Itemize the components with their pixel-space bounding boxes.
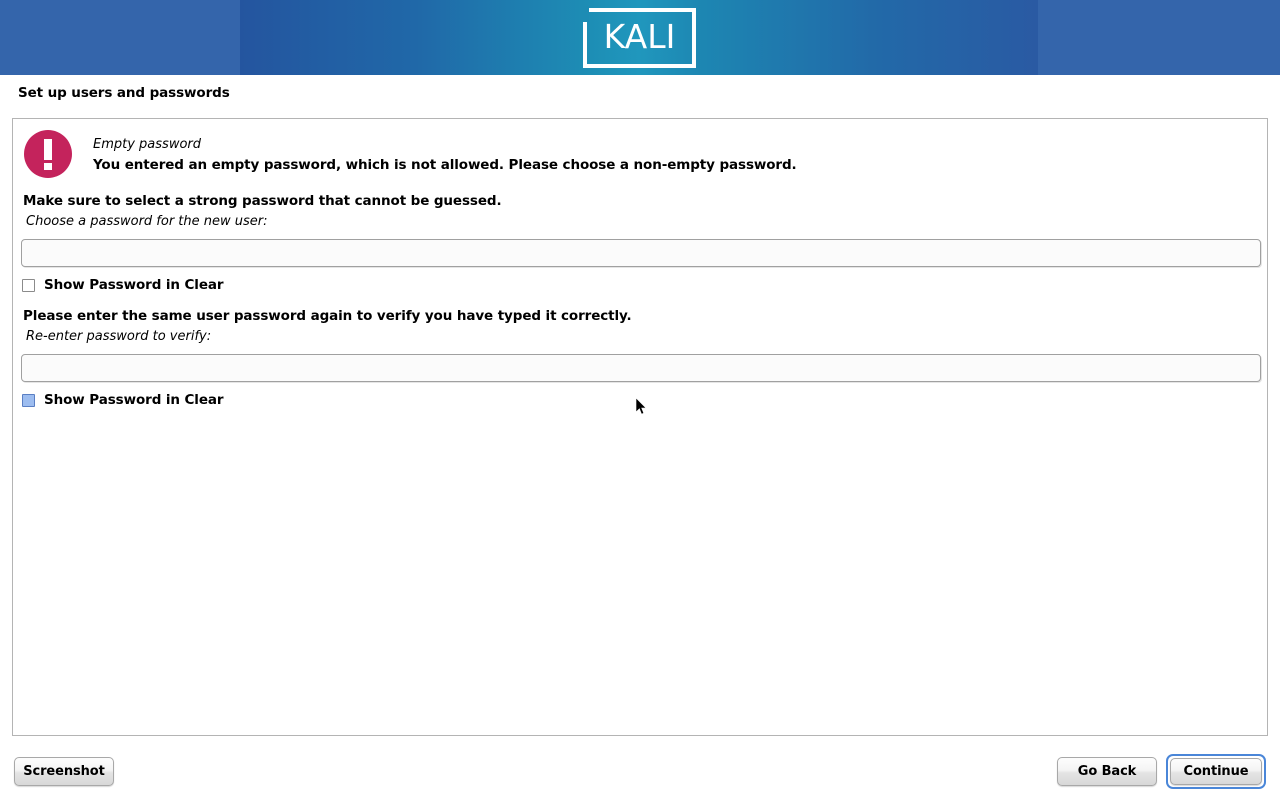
password-instruction: Make sure to select a strong password th… [23, 193, 502, 209]
error-message-text: You entered an empty password, which is … [93, 157, 797, 173]
show-password-label-1: Show Password in Clear [44, 277, 223, 293]
show-password-checkbox-row-2[interactable]: Show Password in Clear [22, 392, 223, 408]
kali-header-banner: KALI [0, 0, 1280, 75]
password-input[interactable] [21, 239, 1261, 267]
verify-field-label: Re-enter password to verify: [26, 329, 211, 344]
show-password-checkbox-row-1[interactable]: Show Password in Clear [22, 277, 223, 293]
main-content-panel: Empty password You entered an empty pass… [12, 118, 1268, 736]
kali-linux-logo: KALI [583, 8, 696, 68]
password-field-label: Choose a password for the new user: [26, 214, 268, 229]
verify-password-input[interactable] [21, 354, 1261, 382]
go-back-button[interactable]: Go Back [1057, 757, 1157, 786]
error-title: Empty password [93, 137, 201, 152]
verify-instruction: Please enter the same user password agai… [23, 308, 632, 324]
show-password-label-2: Show Password in Clear [44, 392, 223, 408]
screenshot-button[interactable]: Screenshot [14, 757, 114, 786]
show-password-checkbox-2[interactable] [22, 394, 35, 407]
logo-wordmark: KALI [583, 8, 696, 68]
error-exclamation-icon [24, 130, 72, 178]
exclamation-dot [44, 163, 52, 170]
continue-button[interactable]: Continue [1170, 758, 1262, 785]
exclamation-bar [44, 139, 52, 160]
page-title: Set up users and passwords [18, 85, 230, 101]
installer-screen: KALI Set up users and passwords Empty pa… [0, 0, 1280, 800]
show-password-checkbox-1[interactable] [22, 279, 35, 292]
